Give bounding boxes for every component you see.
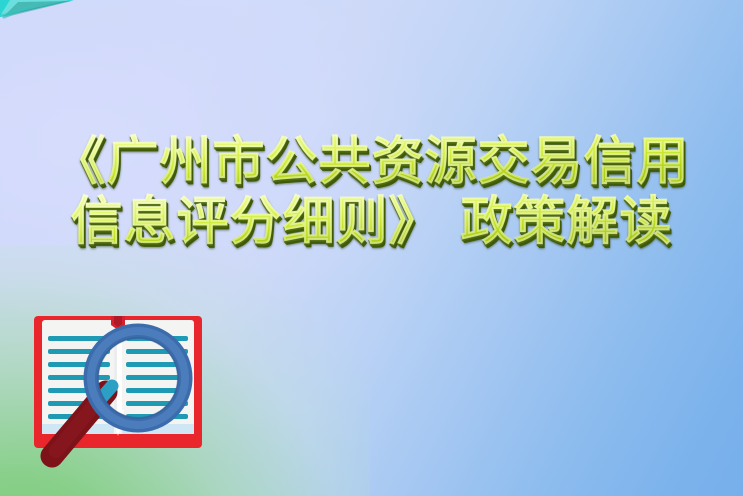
book-magnifier-graphic (26, 306, 218, 481)
title-slide: 《广州市公共资源交易信用 《广州市公共资源交易信用 《广州市公共资源交易信用 信… (0, 0, 743, 496)
open-book-with-magnifying-glass-icon (26, 306, 218, 481)
